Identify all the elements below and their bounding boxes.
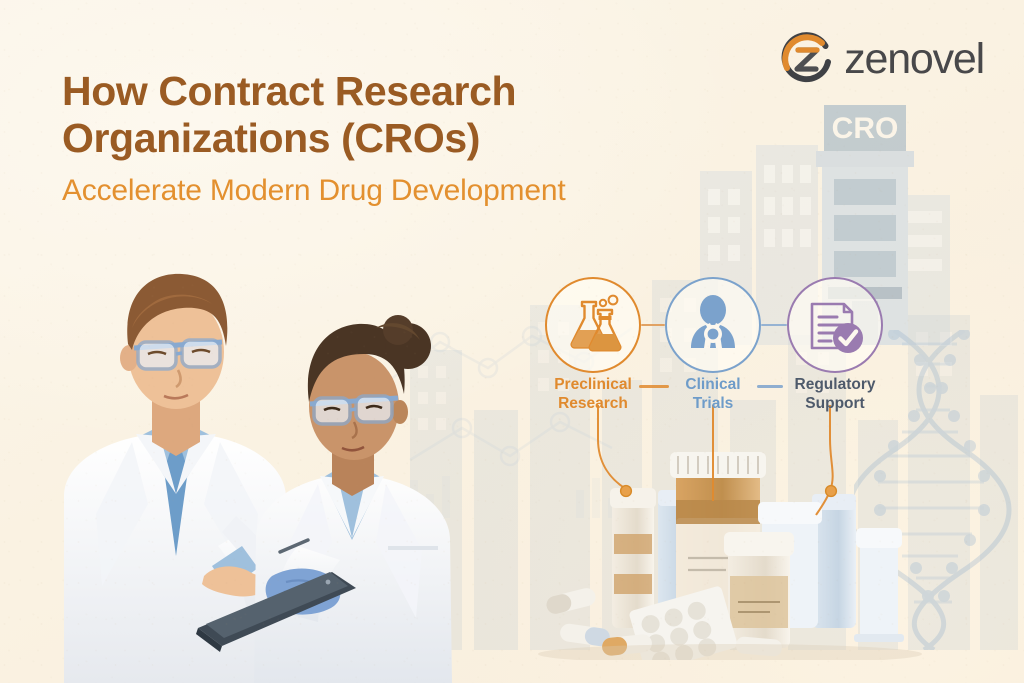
- connector-pre-to-cli: [641, 324, 665, 326]
- process-step-preclinical[interactable]: [545, 277, 641, 373]
- page-subtitle: Accelerate Modern Drug Development: [62, 172, 702, 210]
- connector-cli-to-reg: [761, 324, 787, 326]
- page-title-line-2: Organizations (CROs): [62, 115, 702, 162]
- label-dash-1: [639, 385, 669, 388]
- clinical-ring: [665, 277, 761, 373]
- label-preclinical-line2: Research: [533, 395, 653, 414]
- brand-logo[interactable]: zenovel: [779, 32, 984, 86]
- label-clinical-line1: Clinical: [653, 376, 773, 395]
- infographic-canvas: CRO: [0, 0, 1024, 683]
- label-regulatory-support: Regulatory Support: [775, 376, 895, 413]
- title-block: How Contract Research Organizations (CRO…: [62, 68, 702, 210]
- preclinical-ring: [545, 277, 641, 373]
- label-preclinical-research: Preclinical Research: [533, 376, 653, 413]
- document-check-icon: [804, 294, 866, 356]
- label-regulatory-line1: Regulatory: [775, 376, 895, 395]
- patient-icon: [682, 294, 744, 356]
- label-clinical-line2: Trials: [653, 395, 773, 414]
- flasks-icon: [562, 294, 624, 356]
- cro-sign-text: CRO: [832, 112, 899, 145]
- scientist-female: [254, 315, 452, 683]
- zenovel-swoosh-icon: [779, 32, 833, 86]
- scientists-illustration: [36, 246, 456, 683]
- process-step-clinical[interactable]: [665, 277, 761, 373]
- label-dash-2: [757, 385, 783, 388]
- page-title: How Contract Research Organizations (CRO…: [62, 68, 702, 162]
- brand-name: zenovel: [844, 38, 984, 81]
- label-clinical-trials: Clinical Trials: [653, 376, 773, 413]
- label-regulatory-line2: Support: [775, 395, 895, 414]
- process-step-regulatory[interactable]: [787, 277, 883, 373]
- regulatory-ring: [787, 277, 883, 373]
- connector-lines: [530, 405, 930, 545]
- page-title-line-1: How Contract Research: [62, 68, 702, 115]
- label-preclinical-line1: Preclinical: [533, 376, 653, 395]
